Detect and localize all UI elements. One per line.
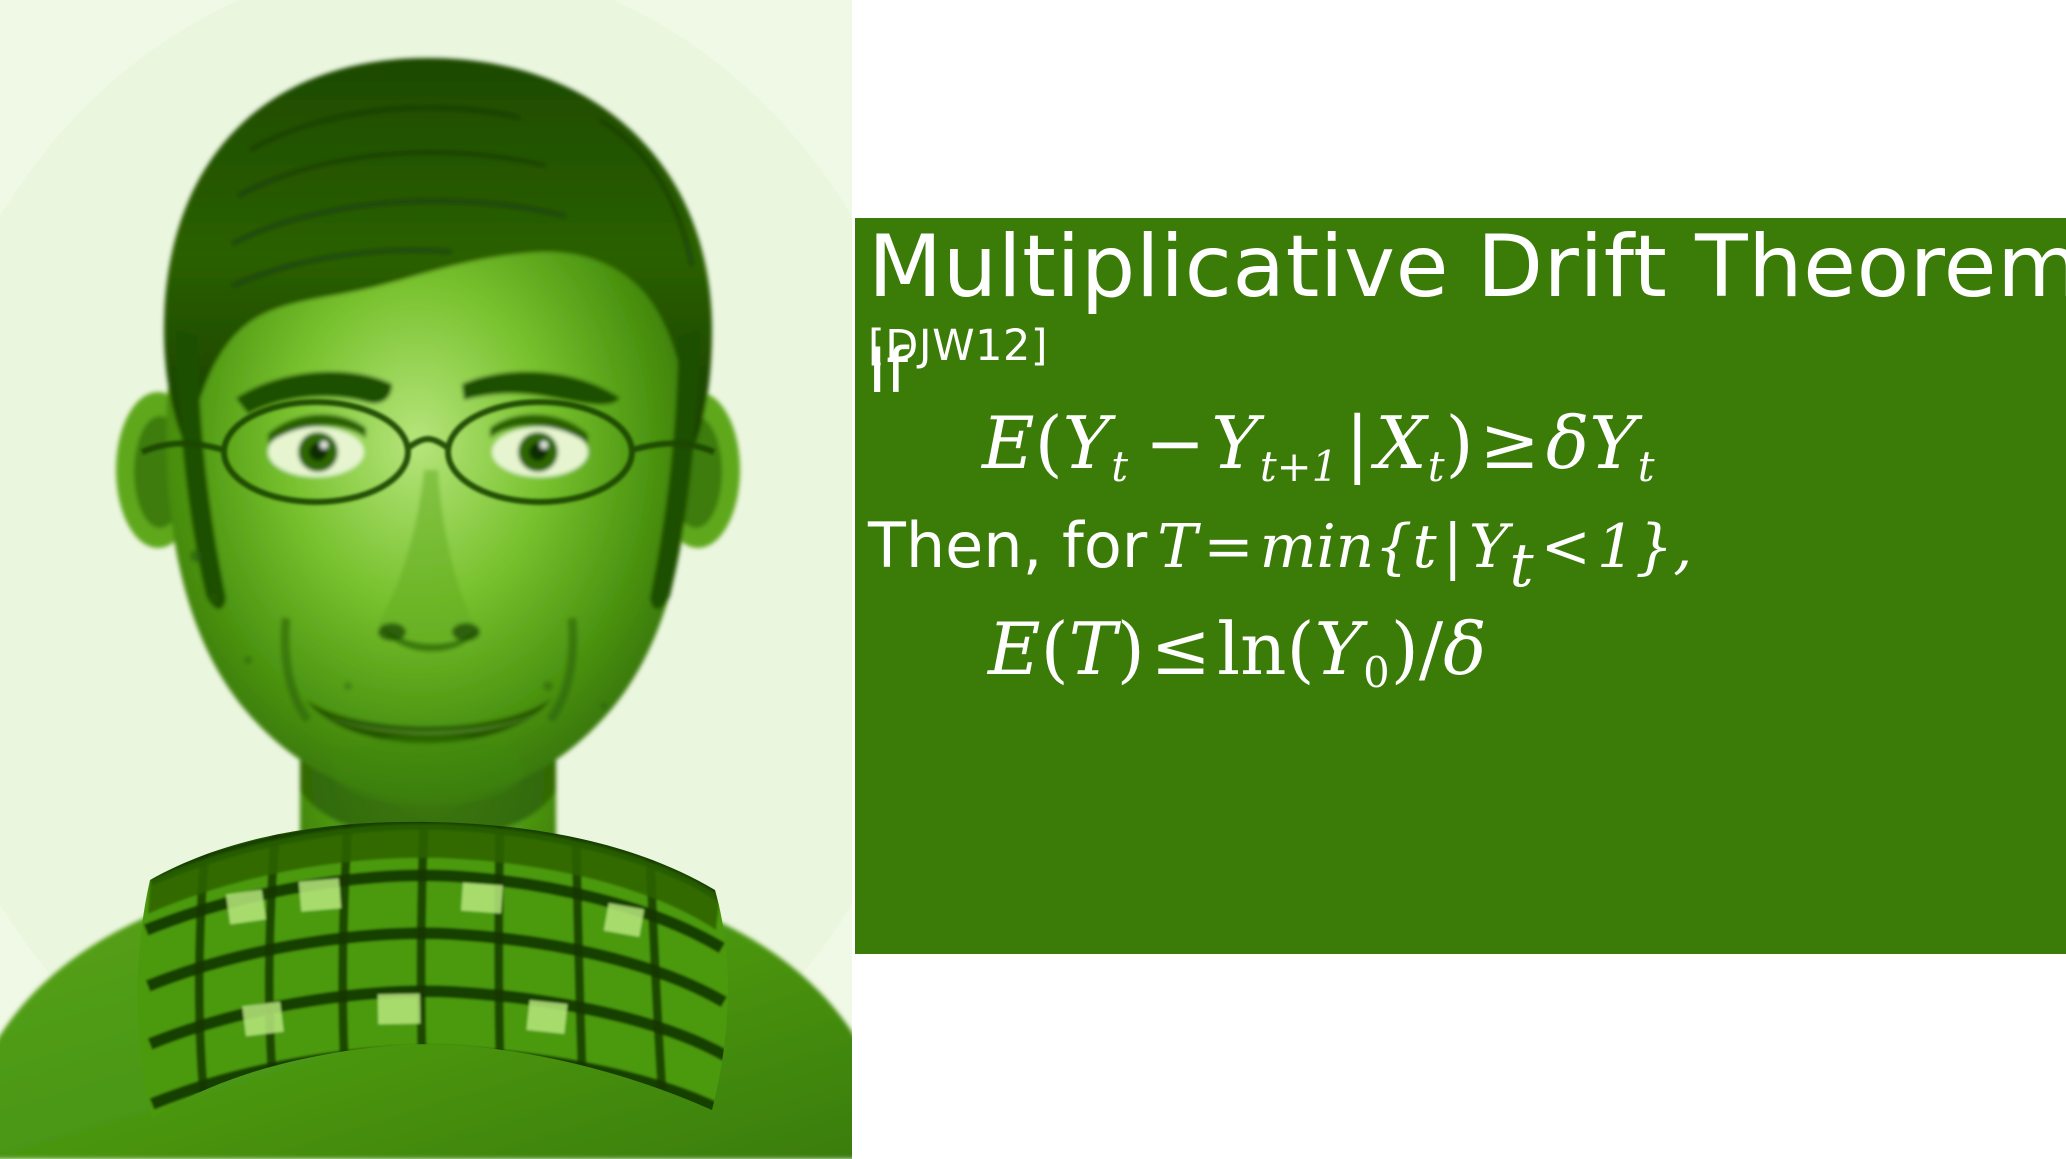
conclusion-Y: Y [1315,607,1363,691]
premise-E: E [982,401,1035,485]
then-prefix: Then, for [868,509,1147,582]
conclusion-formula: E(T)≤ln(Y0)/δ [988,606,1486,716]
then-less-than: < [1535,512,1597,582]
conclusion-open-paren: ( [1041,607,1069,691]
then-comma: , [1673,512,1692,582]
premise-Y1-sub: t [1110,442,1129,491]
premise-X-sub: t [1427,442,1446,491]
conclusion-T: T [1069,607,1117,691]
premise-formula: E(Yt−Yt+1|Xt)≥δYt [982,400,1656,510]
then-line: Then, forT=min{t|Yt<1}, [868,508,1692,604]
premise-Y1: Y [1063,401,1111,485]
conclusion-E: E [988,607,1041,691]
theorem-title: Multiplicative Drift Theorem [868,218,2066,322]
conclusion-ln: ln [1217,607,1286,691]
then-open-brace: { [1374,512,1412,582]
premise-Y3: Y [1589,401,1637,485]
theorem-box: Multiplicative Drift Theorem [DJW12] If … [855,218,2066,954]
premise-open-paren: ( [1035,401,1063,485]
conclusion-leq: ≤ [1145,607,1217,691]
premise-Y3-sub: t [1637,442,1656,491]
then-var-Y: Y [1469,512,1509,582]
premise-Y2: Y [1211,401,1259,485]
then-equals: = [1197,512,1259,582]
then-var-T: T [1157,512,1197,582]
premise-X: X [1375,401,1426,485]
premise-close-paren: ) [1445,401,1473,485]
premise-given-bar: | [1339,401,1375,485]
premise-geq: ≥ [1474,401,1546,485]
then-one: 1 [1597,512,1635,582]
then-var-t: t [1413,512,1437,582]
then-close-brace: } [1635,512,1673,582]
portrait-photo [0,0,852,1159]
portrait-photo-panel [0,0,852,1159]
then-var-Y-sub: t [1508,531,1534,601]
conclusion-Y-sub: 0 [1362,648,1391,697]
conclusion-close-paren: ) [1117,607,1145,691]
premise-delta: δ [1546,401,1589,485]
conclusion-slash: / [1419,607,1443,691]
if-keyword: If [868,335,908,407]
premise-minus: − [1139,401,1211,485]
conclusion-close-paren-2: ) [1391,607,1419,691]
premise-Y2-sub: t+1 [1259,442,1339,491]
conclusion-open-paren-2: ( [1287,607,1315,691]
then-given-bar: | [1437,512,1469,582]
then-min: min [1260,512,1375,582]
conclusion-delta: δ [1443,607,1486,691]
